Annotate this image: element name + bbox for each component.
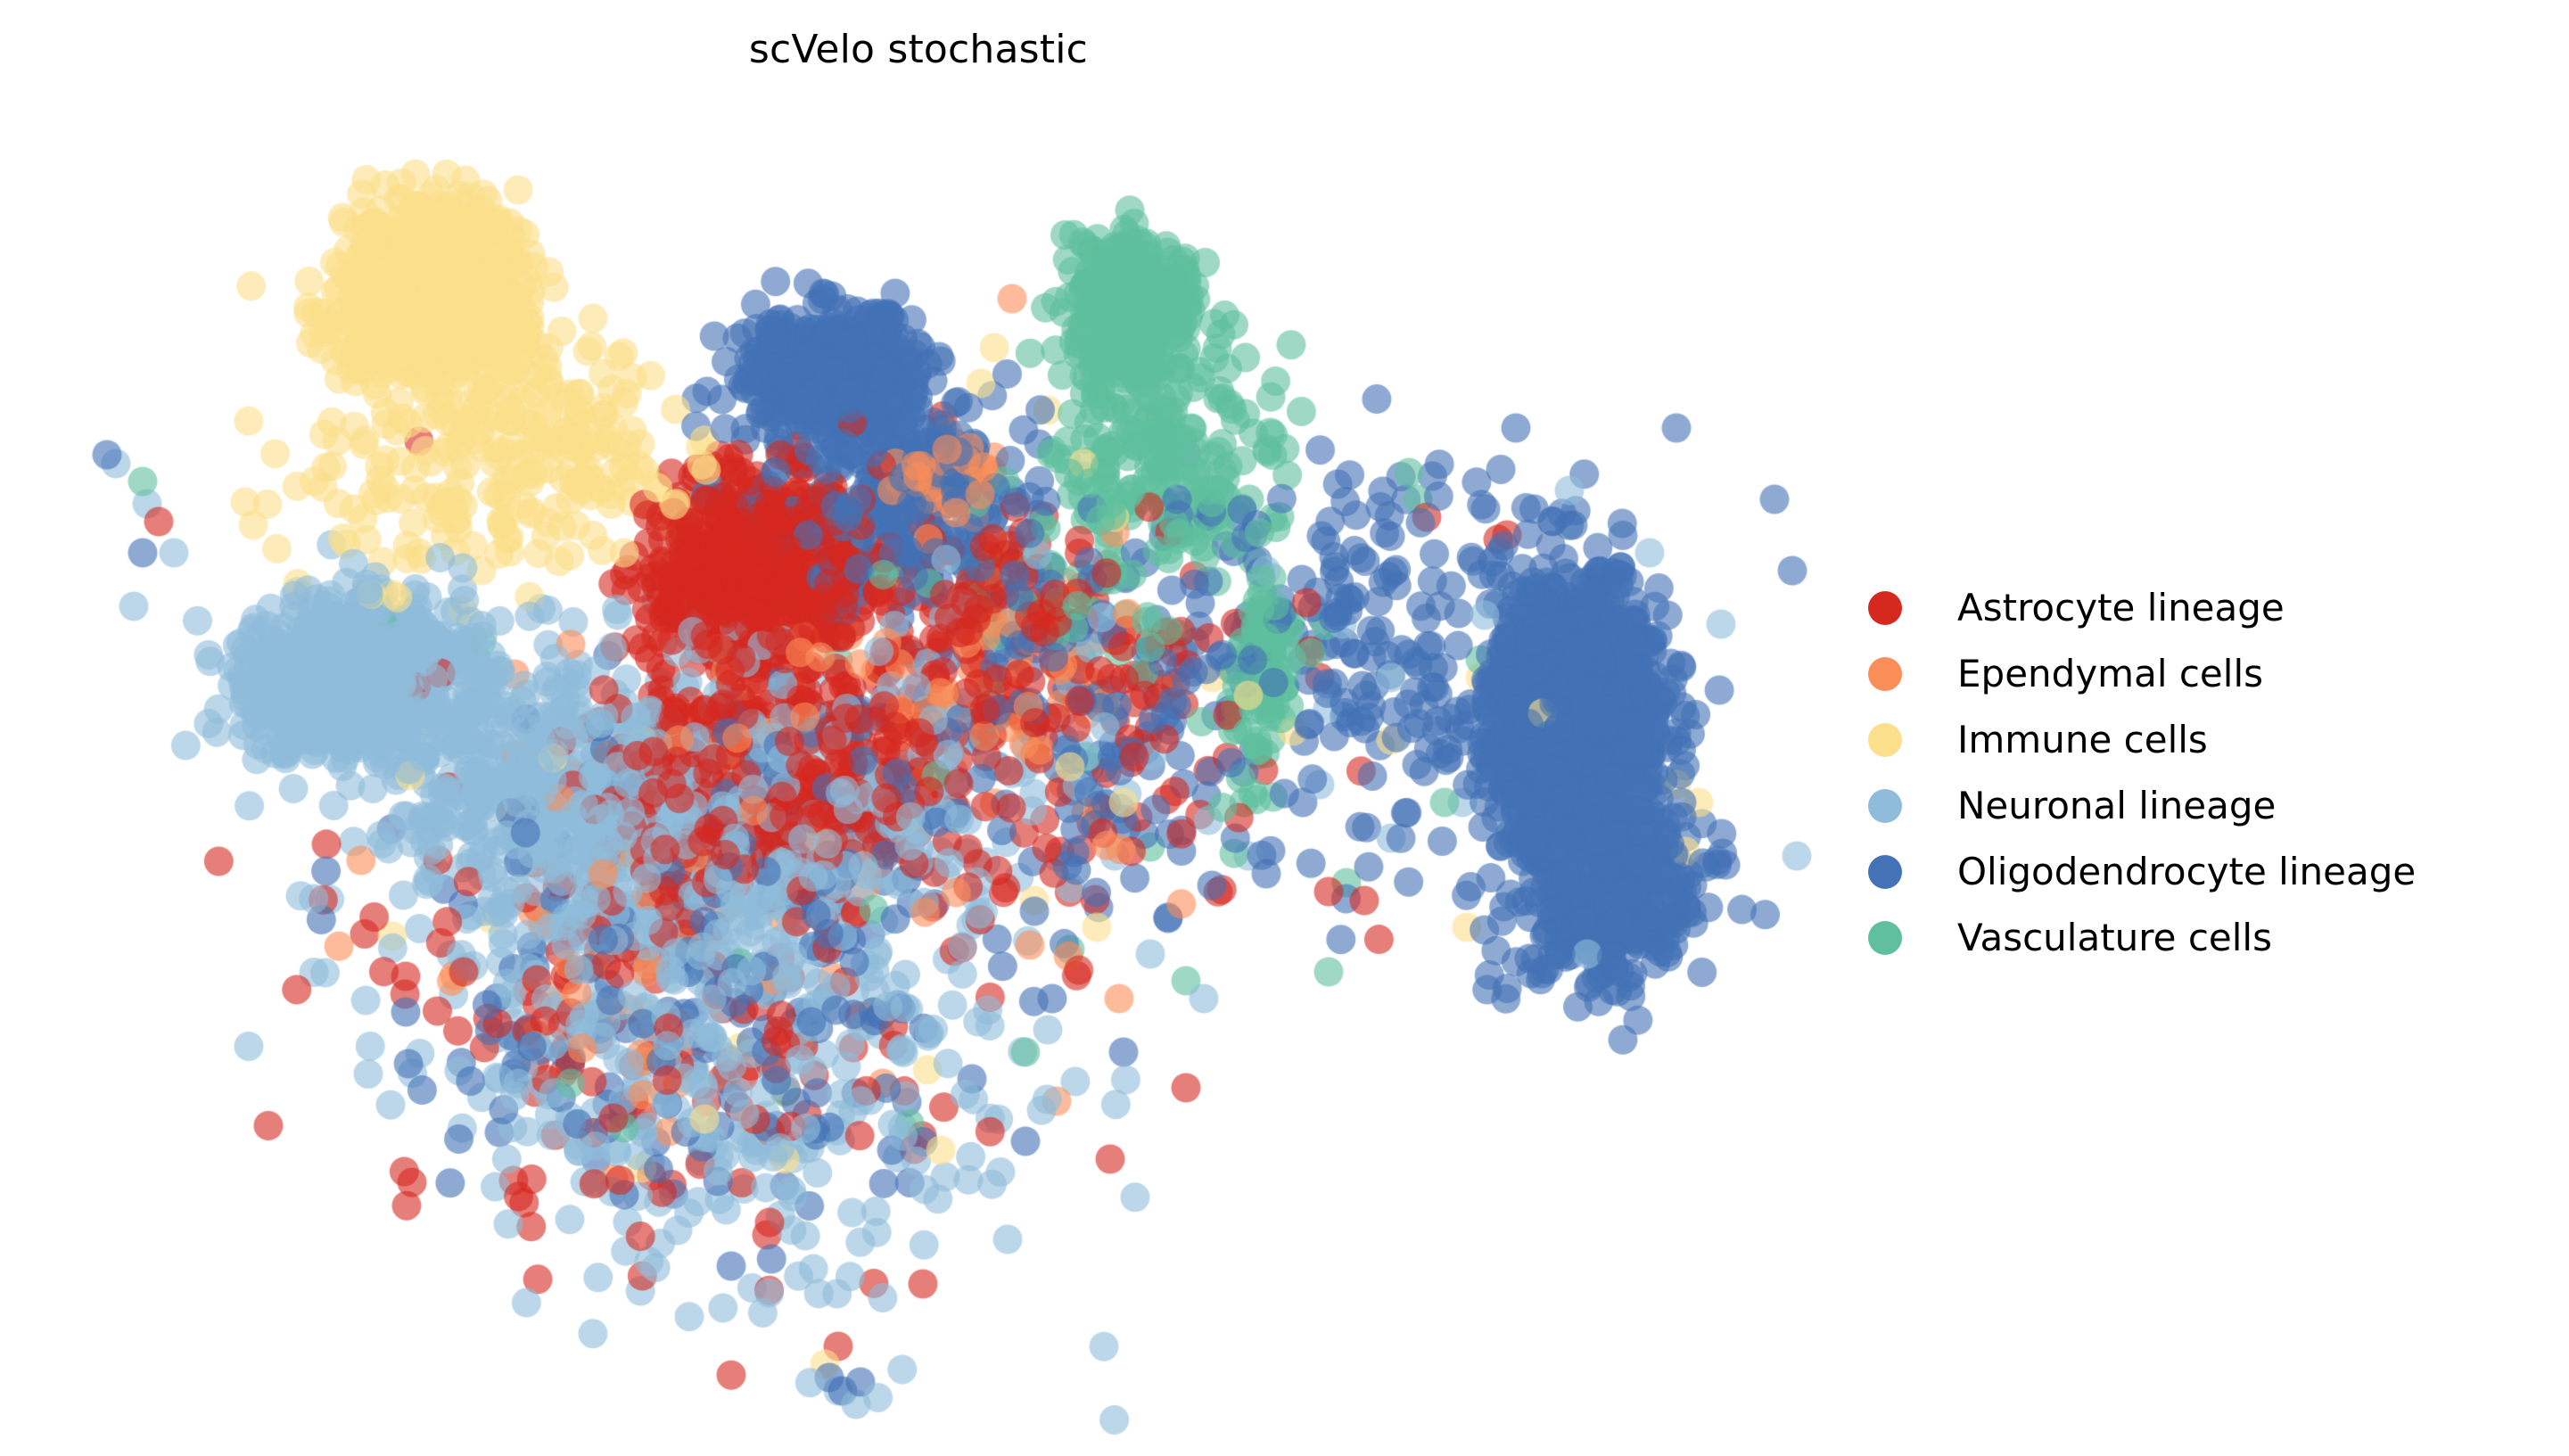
legend: Astrocyte lineage Ependymal cells Immune… [1868,575,2528,971]
legend-label-astrocyte-lineage: Astrocyte lineage [1957,589,2285,627]
legend-label-immune-cells: Immune cells [1957,721,2208,759]
legend-label-ependymal-cells: Ependymal cells [1957,655,2263,693]
legend-label-neuronal-lineage: Neuronal lineage [1957,787,2276,825]
legend-item-vasculature-cells[interactable]: Vasculature cells [1868,905,2528,971]
legend-dot-astrocyte-lineage [1868,591,1902,625]
legend-dot-vasculature-cells [1868,921,1902,955]
legend-item-immune-cells[interactable]: Immune cells [1868,707,2528,773]
legend-item-neuronal-lineage[interactable]: Neuronal lineage [1868,773,2528,839]
legend-dot-immune-cells [1868,723,1902,757]
legend-dot-oligodendrocyte-lineage [1868,855,1902,889]
legend-item-astrocyte-lineage[interactable]: Astrocyte lineage [1868,575,2528,641]
legend-dot-neuronal-lineage [1868,789,1902,823]
legend-item-ependymal-cells[interactable]: Ependymal cells [1868,641,2528,707]
legend-label-oligodendrocyte-lineage: Oligodendrocyte lineage [1957,853,2416,891]
legend-dot-ependymal-cells [1868,657,1902,691]
legend-label-vasculature-cells: Vasculature cells [1957,919,2272,957]
figure-canvas: scVelo stochastic Astrocyte lineage Epen… [0,0,2569,1456]
legend-item-oligodendrocyte-lineage[interactable]: Oligodendrocyte lineage [1868,839,2528,905]
